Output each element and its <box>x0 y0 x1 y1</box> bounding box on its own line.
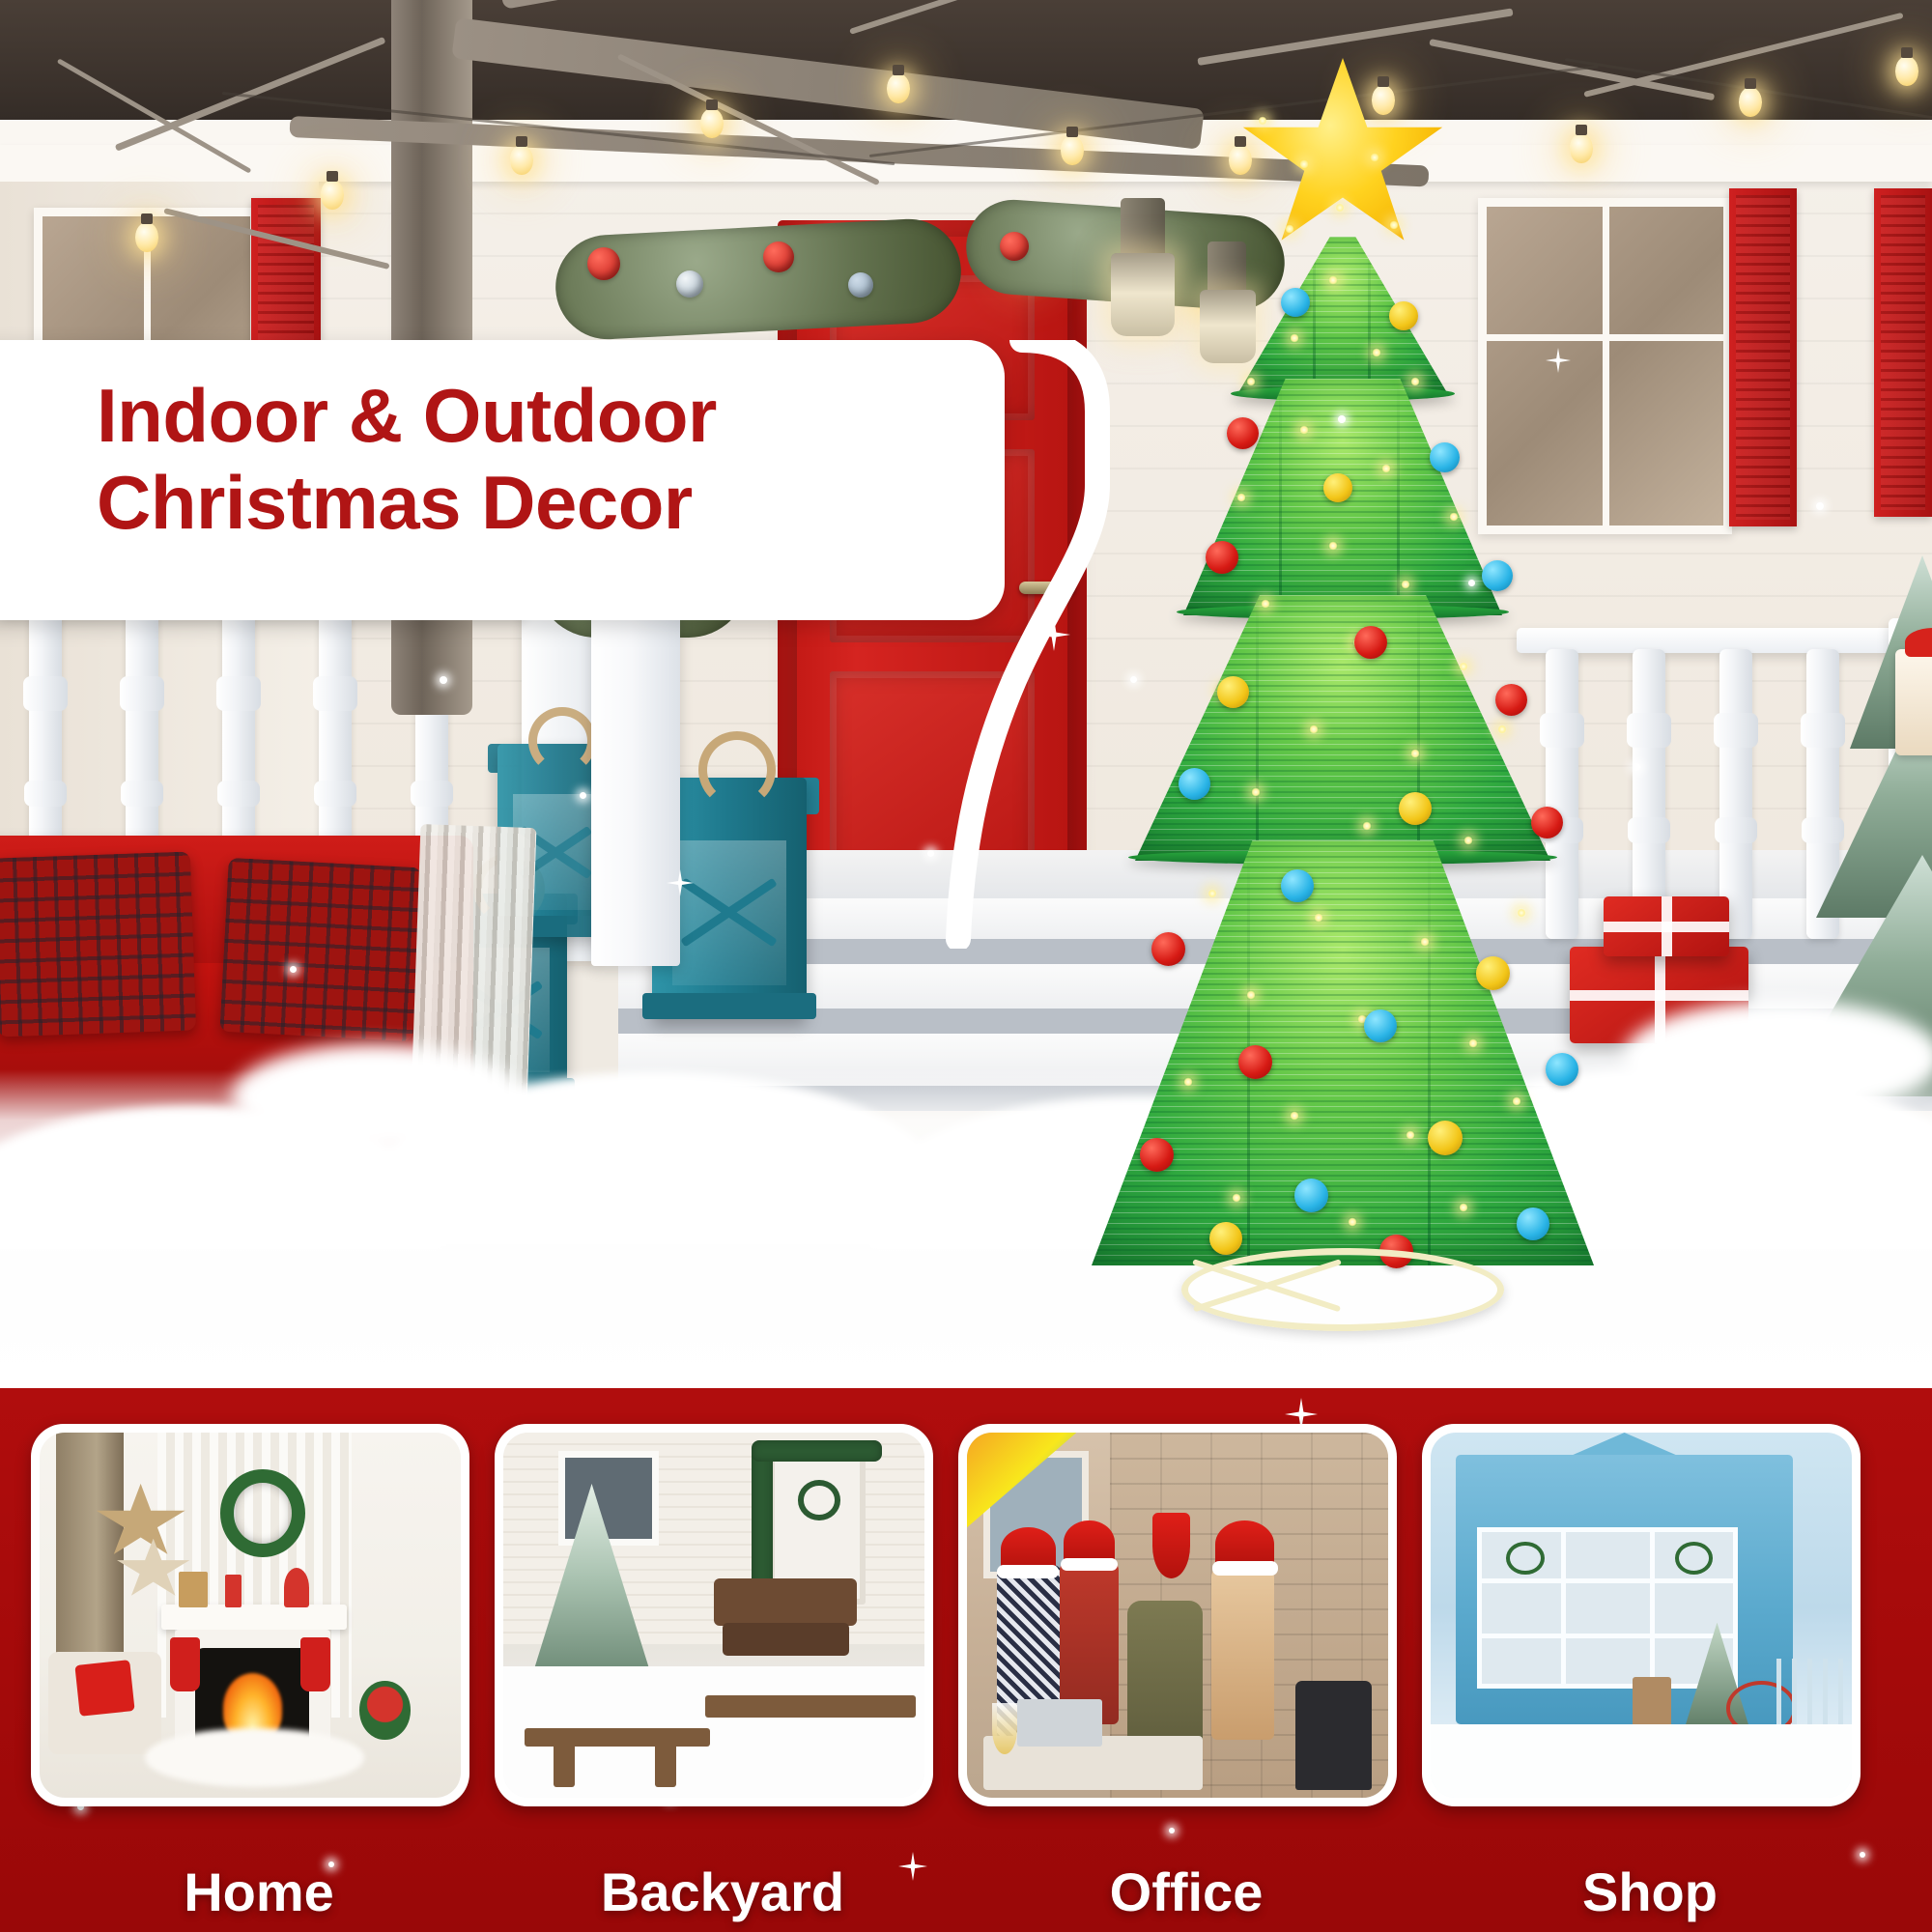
window-mullion <box>1603 207 1609 526</box>
ornament-pom <box>1495 684 1527 716</box>
tree-led <box>1328 275 1338 285</box>
window-mullion <box>1477 1578 1738 1583</box>
string-light-bulb <box>1061 135 1084 165</box>
snow-drift <box>232 1043 522 1150</box>
stocking-right <box>300 1637 330 1692</box>
tier-seam <box>1428 840 1431 1265</box>
tree-led <box>1401 580 1410 589</box>
tree-led <box>1410 749 1420 758</box>
ornament-pom <box>1294 1179 1328 1212</box>
tier-seam <box>1397 379 1400 615</box>
tree-led <box>1207 889 1217 898</box>
picnic-bench <box>525 1728 710 1747</box>
stocking-left <box>170 1637 200 1692</box>
lantern-base <box>642 993 815 1020</box>
star-led <box>1299 159 1309 169</box>
santa-hat <box>1001 1527 1056 1571</box>
tree-led <box>1328 541 1338 551</box>
tree-led <box>1314 913 1323 923</box>
railing <box>1776 1659 1844 1724</box>
hero-scene: Indoor & Outdoor Christmas Decor <box>0 0 1932 1388</box>
gold-star-topper <box>1239 58 1447 256</box>
ornament-pom <box>1399 792 1432 825</box>
fireplace-mantel <box>161 1605 347 1630</box>
tree-led <box>1232 1193 1241 1203</box>
tree-led <box>1183 1077 1193 1087</box>
tree-led <box>1468 1038 1478 1048</box>
shutter-right <box>1729 188 1797 526</box>
scenario-label-home: Home <box>40 1861 478 1923</box>
string-light-bulb <box>700 108 724 138</box>
door-garland-top <box>752 1440 882 1463</box>
snow-sparkle <box>1468 580 1475 586</box>
patio-cushion <box>723 1623 849 1656</box>
ornament-pom <box>1531 807 1563 838</box>
product-marketing-image: Indoor & Outdoor Christmas Decor <box>0 0 1932 1932</box>
ornament-pom <box>1238 1045 1272 1079</box>
gnome-figure <box>284 1568 309 1608</box>
snow-sparkle <box>1633 763 1640 771</box>
christmas-wreath <box>220 1469 304 1557</box>
scenario-card-shop[interactable]: Shop <box>1422 1424 1861 1806</box>
door-wreath <box>798 1480 840 1520</box>
tree-led <box>1299 425 1309 435</box>
window-wreath <box>1506 1542 1544 1575</box>
snow-sparkle <box>927 850 934 857</box>
deck-plank <box>705 1695 916 1718</box>
office-chair <box>1295 1681 1371 1790</box>
tree-led <box>1497 724 1507 734</box>
snow-sparkle <box>1816 502 1824 510</box>
window-mullion <box>1650 1527 1655 1688</box>
snow-sparkle <box>1130 676 1137 683</box>
scenario-card-home[interactable]: Home <box>31 1424 469 1806</box>
scenario-image-home <box>40 1433 461 1798</box>
string-light-bulb <box>1895 56 1918 86</box>
person-standing-right <box>1211 1564 1274 1739</box>
garland-ornament <box>1000 232 1029 261</box>
porch-column <box>591 580 680 966</box>
window-mullion <box>1477 1634 1738 1638</box>
tree-led <box>1261 599 1270 609</box>
scenario-image-backyard <box>503 1433 924 1798</box>
star-led <box>1370 153 1379 162</box>
ornament-pom <box>1482 560 1513 591</box>
tree-led <box>1246 990 1256 1000</box>
tree-base-ring <box>1181 1248 1504 1331</box>
wine-glass <box>992 1703 1017 1754</box>
baluster <box>1633 649 1665 939</box>
ornament-pom <box>1227 417 1259 449</box>
tree-led <box>1290 333 1299 343</box>
strip-sparkle <box>1169 1828 1175 1833</box>
ornament-pom <box>1281 288 1310 317</box>
tree-led <box>1309 724 1319 734</box>
snow-sparkle <box>440 676 447 684</box>
string-light-bulb <box>321 180 344 210</box>
tree-led <box>1406 1130 1415 1140</box>
page-title: Indoor & Outdoor Christmas Decor <box>97 372 947 547</box>
baluster <box>1719 649 1752 939</box>
scenario-image-shop <box>1431 1433 1852 1798</box>
tree-led <box>1517 908 1526 918</box>
ornament-pom <box>1323 473 1352 502</box>
plaid-cushion-left <box>0 851 196 1037</box>
tree-tier-4 <box>1092 840 1594 1265</box>
ornament-pom <box>1430 442 1460 472</box>
ornament-pom <box>1140 1138 1174 1172</box>
tree-led <box>1449 512 1459 522</box>
garland-ornament <box>763 241 794 272</box>
ornament-pom <box>1209 1222 1242 1255</box>
tree-led <box>1251 787 1261 797</box>
snow-sparkle <box>290 966 297 973</box>
tree-led <box>1236 493 1246 502</box>
patio-sofa <box>714 1578 857 1626</box>
laptop <box>1017 1699 1101 1747</box>
strip-sparkle <box>1860 1852 1865 1858</box>
product-christmas-tree <box>1092 58 1594 1333</box>
shutter-right-far <box>1874 188 1932 517</box>
ornament-pom <box>1517 1207 1549 1240</box>
scenario-label-shop: Shop <box>1431 1861 1869 1923</box>
tier-seam <box>1368 237 1371 396</box>
garland-ornament <box>848 272 873 298</box>
string-light-bulb <box>1739 87 1762 117</box>
mantel-decor <box>179 1572 209 1608</box>
ornament-pom <box>1354 626 1387 659</box>
tree-led <box>1459 662 1468 671</box>
window-mullion <box>1561 1527 1566 1688</box>
tier-seam <box>1279 379 1282 615</box>
ornament-pom <box>1151 932 1185 966</box>
string-light-bulb <box>510 145 533 175</box>
tree-led <box>1420 937 1430 947</box>
headline-line-1: Indoor & Outdoor <box>97 372 947 459</box>
star-led <box>1285 224 1294 234</box>
snow-sparkle <box>580 792 586 799</box>
tree-led <box>1290 1111 1299 1121</box>
snow-drift <box>1623 1000 1932 1116</box>
bench-leg <box>554 1740 575 1787</box>
plaid-cushion-right <box>219 858 421 1041</box>
scenario-card-office[interactable]: Office <box>958 1424 1397 1806</box>
fur-rug <box>145 1728 364 1786</box>
scenario-label-backyard: Backyard <box>503 1861 942 1923</box>
snow-ground <box>1431 1724 1852 1798</box>
tree-led <box>1348 1217 1357 1227</box>
red-pillow <box>75 1660 135 1717</box>
ornament-pom <box>1217 676 1249 708</box>
tree-led <box>1410 377 1420 386</box>
tree-led <box>1463 836 1473 845</box>
tier-seam <box>1256 595 1259 861</box>
poinsettia <box>359 1681 410 1739</box>
ornament-pom <box>1476 956 1510 990</box>
gift-box-small <box>1604 896 1729 956</box>
tier-seam <box>1313 237 1316 396</box>
ornament-pom <box>1428 1121 1463 1155</box>
scenario-card-backyard[interactable]: Backyard <box>495 1424 933 1806</box>
bench-leg <box>655 1740 676 1787</box>
door-lock-plate <box>1055 572 1067 605</box>
held-santa-hat <box>1152 1513 1190 1578</box>
garland-ornament <box>587 247 620 280</box>
tree-led <box>1246 377 1256 386</box>
lantern-handle <box>528 707 596 775</box>
ornament-pom <box>1206 541 1238 574</box>
ornament-pom <box>1281 869 1314 902</box>
santa-hat <box>1215 1520 1274 1568</box>
snow-sparkle <box>1338 415 1346 423</box>
ornament-pom <box>1546 1053 1578 1086</box>
tree-led <box>1372 348 1381 357</box>
tree-led <box>1381 464 1391 473</box>
headline-line-2: Christmas Decor <box>97 459 947 546</box>
scenario-label-office: Office <box>967 1861 1406 1923</box>
tree-led <box>1459 1203 1468 1212</box>
garland-ornament <box>676 270 703 298</box>
ornament-pom <box>1389 301 1418 330</box>
tree-led <box>1362 821 1372 831</box>
tree-led <box>1512 1096 1521 1106</box>
string-light-bulb <box>135 222 158 252</box>
tree-tier-3 <box>1135 595 1550 861</box>
mantel-candle <box>225 1575 241 1607</box>
usage-scenarios-strip: Home Backyard <box>0 1388 1932 1932</box>
star-led <box>1258 116 1267 126</box>
santa-hat <box>1064 1520 1114 1564</box>
santa-sign <box>1895 649 1932 755</box>
lantern-handle <box>698 731 776 809</box>
scenario-image-office <box>967 1433 1388 1798</box>
star-led <box>1389 220 1399 230</box>
star-led <box>1335 203 1345 213</box>
door-garland <box>553 216 963 342</box>
string-light-bulb <box>887 73 910 103</box>
ornament-pom <box>1364 1009 1397 1042</box>
patio-window <box>558 1451 660 1546</box>
ornament-pom <box>1179 768 1210 800</box>
